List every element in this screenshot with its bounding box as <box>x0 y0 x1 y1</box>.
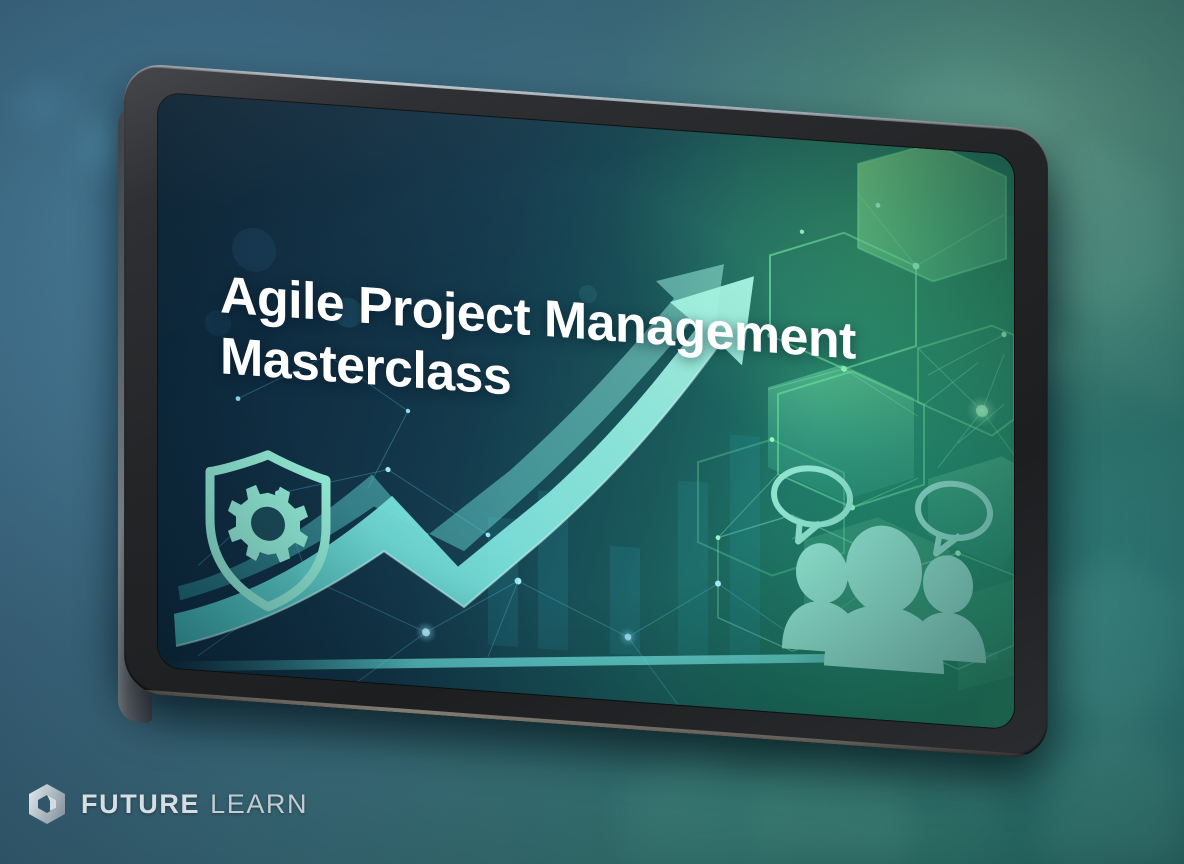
brand-logo[interactable]: FUTURE LEARN <box>28 783 308 825</box>
tablet-bezel: Agile Project Management Masterclass <box>124 62 1048 759</box>
scene-root: Agile Project Management Masterclass <box>0 0 1184 864</box>
brand-word-future: FUTURE <box>81 789 200 820</box>
hex-cube-logo-icon <box>28 783 66 825</box>
tablet-device: Agile Project Management Masterclass <box>118 96 1048 736</box>
tablet-screen[interactable]: Agile Project Management Masterclass <box>158 93 1014 729</box>
brand-word-learn: LEARN <box>210 789 308 820</box>
brand-wordmark: FUTURE LEARN <box>81 789 308 820</box>
